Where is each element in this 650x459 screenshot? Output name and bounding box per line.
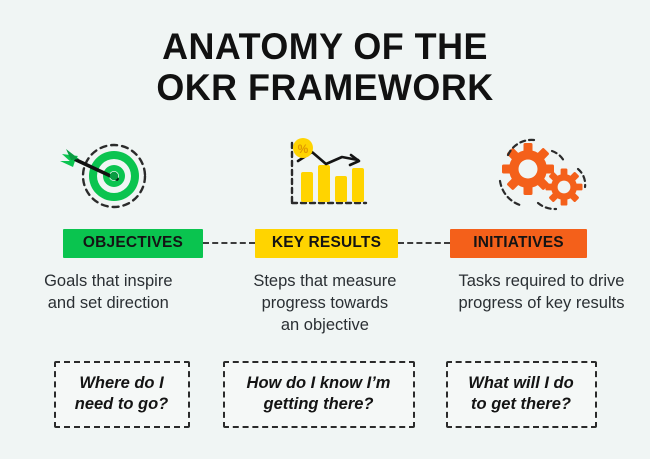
description-initiatives: Tasks required to drive progress of key … — [433, 270, 650, 336]
banner-initiatives[interactable]: INITIATIVES — [450, 229, 587, 258]
gears-cogs-icon — [482, 132, 600, 220]
description-line: progress towards — [225, 292, 426, 314]
question-box-initiatives: What will I do to get there? — [446, 361, 597, 428]
okr-infographic: ANATOMY OF THE OKR FRAMEWORK — [0, 0, 650, 459]
question-line: to get there? — [454, 394, 589, 415]
question-box-key-results: How do I know I’m getting there? — [223, 361, 415, 428]
description-line: progress of key results — [441, 292, 642, 314]
description-objectives: Goals that inspire and set direction — [0, 270, 217, 336]
description-line: Goals that inspire — [8, 270, 209, 292]
title-line-2: OKR FRAMEWORK — [10, 67, 641, 108]
svg-text:%: % — [298, 142, 309, 156]
description-line: and set direction — [8, 292, 209, 314]
description-line: Steps that measure — [225, 270, 426, 292]
question-line: How do I know I’m — [231, 373, 407, 394]
description-key-results: Steps that measure progress towards an o… — [217, 270, 434, 336]
title-line-1: ANATOMY OF THE — [10, 26, 641, 67]
banner-objectives[interactable]: OBJECTIVES — [63, 229, 203, 258]
icon-row: % — [0, 132, 650, 220]
bar-chart-growth-percent-icon: % — [270, 132, 380, 220]
dashed-connector-left — [203, 242, 255, 244]
column-objectives — [0, 132, 217, 220]
question-line: getting there? — [231, 394, 407, 415]
question-line: Where do I — [62, 373, 182, 394]
description-line: Tasks required to drive — [441, 270, 642, 292]
question-box-objectives: Where do I need to go? — [54, 361, 190, 428]
dashed-connector-right — [398, 242, 450, 244]
description-line: an objective — [225, 314, 426, 336]
question-line: What will I do — [454, 373, 589, 394]
target-bullseye-arrow-icon — [48, 132, 168, 220]
description-row: Goals that inspire and set direction Ste… — [0, 270, 650, 336]
page-title: ANATOMY OF THE OKR FRAMEWORK — [0, 26, 650, 108]
banner-key-results[interactable]: KEY RESULTS — [255, 229, 398, 258]
question-line: need to go? — [62, 394, 182, 415]
column-initiatives — [433, 132, 650, 220]
column-key-results: % — [217, 132, 434, 220]
question-box-row: Where do I need to go? How do I know I’m… — [0, 361, 650, 428]
banner-row: OBJECTIVES KEY RESULTS INITIATIVES — [0, 228, 650, 258]
